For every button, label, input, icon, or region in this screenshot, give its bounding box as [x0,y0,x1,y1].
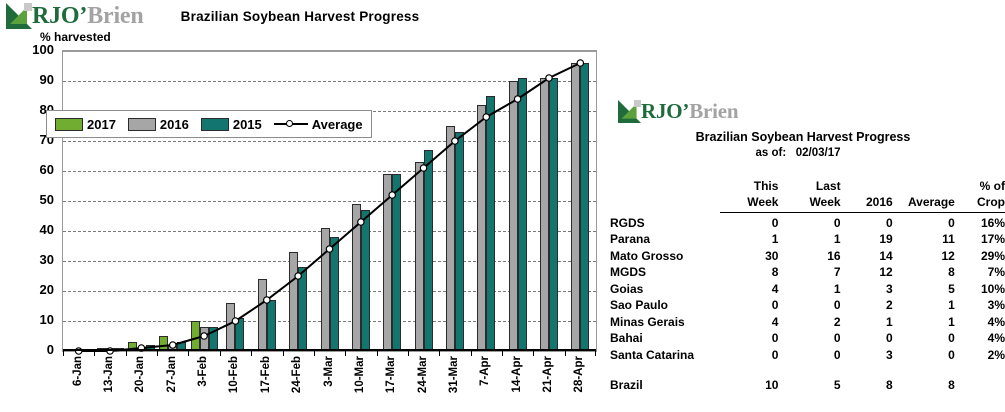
table-row: MGDS871287% [608,263,1005,280]
row-label: Sao Paulo [608,296,720,313]
cell-pct-crop: 7% [955,263,1005,280]
bar-2015-14-Apr [518,78,527,351]
legend-label: Average [312,117,363,132]
cell-2016: 2 [841,296,893,313]
cell-pct-crop: 4% [955,312,1005,329]
row-label: Bahai [608,329,720,346]
bar-2015-28-Apr [580,63,589,351]
cell-pct-crop: 10% [955,279,1005,296]
cell-this-week: 4 [720,279,778,296]
cell-pct-crop: 29% [955,246,1005,263]
bar-group [94,51,125,351]
bar-group [283,51,314,351]
bar-2015-21-Apr [549,78,558,351]
cell-2016: 12 [841,263,893,280]
bar-group [408,51,439,351]
table-spacer-row [608,362,1005,376]
x-axis-tick [283,351,284,356]
x-axis-tick-label: 14-Apr [511,356,523,392]
x-axis-tick-label: 7-Apr [479,356,491,386]
cell-last-week: 1 [778,279,840,296]
x-axis-tick-label: 3-Feb [197,356,209,387]
table-row: Sao Paulo00213% [608,296,1005,313]
bar-2015-10-Mar [361,210,370,351]
logo-brien-text: Brien [689,99,738,123]
bar-2016-31-Mar [446,126,455,351]
logo-wordmark: RJO’Brien [641,101,738,122]
column-header: Crop [955,193,1005,210]
cell-last-week: 2 [778,312,840,329]
cell-this-week: 0 [720,329,778,346]
bar-group [126,51,157,351]
cell-this-week: 30 [720,246,778,263]
table-body: RGDS000016%Parana11191117%Mato Grosso301… [608,213,1005,393]
bar-group [377,51,408,351]
bar-group [502,51,533,351]
cell-average: 5 [893,279,955,296]
cell-this-week: 1 [720,230,778,247]
cell-last-week: 0 [778,213,840,230]
x-axis-tick [502,351,503,356]
column-header [608,176,720,193]
legend-label: 2017 [87,117,116,132]
column-header: Last [778,176,840,193]
bar-2016-17-Feb [258,279,267,351]
logo-rjo-text: RJO [32,3,79,29]
x-axis-tick-label: 10-Feb [228,356,240,393]
table-row: Parana11191117% [608,230,1005,247]
chart-legend: 201720162015Average [46,110,372,138]
legend-item-2017: 2017 [55,117,116,132]
cell-pct-crop: 3% [955,296,1005,313]
row-label: Mato Grosso [608,246,720,263]
spacer-cell [720,362,778,376]
bar-group [157,51,188,351]
cell-average: 0 [893,329,955,346]
cell-2016: 8 [841,376,893,393]
row-label: Santa Catarina [608,345,720,362]
y-axis-tick-label: 10 [20,315,54,325]
column-header: Week [778,193,840,210]
cell-2016: 0 [841,329,893,346]
column-header [841,176,893,193]
x-axis-tick [220,351,221,356]
x-axis-tick [439,351,440,356]
row-label: Parana [608,230,720,247]
legend-swatch-icon [128,118,156,131]
summary-panel: RJO’Brien Brazilian Soybean Harvest Prog… [608,0,1005,412]
bar-2015-7-Apr [486,96,495,351]
spacer-cell [841,362,893,376]
column-header: This [720,176,778,193]
cell-last-week: 0 [778,329,840,346]
legend-item-2015: 2015 [201,117,262,132]
cell-last-week: 1 [778,230,840,247]
bar-group [471,51,502,351]
cell-this-week: 0 [720,345,778,362]
column-header [893,176,955,193]
row-label: RGDS [608,213,720,230]
y-axis-tick-label: 0 [20,345,54,355]
table-row: Goias413510% [608,279,1005,296]
rjo-brien-logo-chart: RJO’Brien [6,3,144,29]
spacer-cell [955,362,1005,376]
zero-axis-line [63,349,596,351]
cell-this-week: 0 [720,213,778,230]
column-header: Week [720,193,778,210]
x-axis-tick-label: 28-Apr [573,356,585,392]
cell-last-week: 7 [778,263,840,280]
bar-2016-3-Feb [200,327,209,351]
bar-group [188,51,219,351]
bar-2016-3-Mar [321,228,330,351]
y-axis-tick-label: 40 [20,225,54,235]
x-axis-tick [471,351,472,356]
bar-group [345,51,376,351]
plot-area [62,50,597,352]
x-axis-tick-label: 10-Mar [354,356,366,393]
bar-2016-10-Feb [226,303,235,351]
x-axis-tick-label: 6-Jan [72,356,84,386]
x-axis-tick-label: 20-Jan [134,356,146,392]
cell-2016: 3 [841,279,893,296]
y-axis-tick-label: 60 [20,165,54,175]
table-header: ThisLast% ofWeekWeek2016AverageCrop [608,176,1005,213]
legend-item-Average: Average [274,117,363,132]
bar-group [63,51,94,351]
rjo-brien-logo-panel: RJO’Brien [618,100,738,123]
bar-2015-17-Feb [267,300,276,351]
table-row: Santa Catarina00302% [608,345,1005,362]
bar-2016-10-Mar [352,204,361,351]
rjo-brien-logo-icon [618,100,641,123]
x-axis-tick-label: 21-Apr [542,356,554,392]
bar-2015-3-Feb [209,327,218,351]
cell-pct-crop: 17% [955,230,1005,247]
column-header: % of [955,176,1005,193]
bar-group [565,51,596,351]
cell-pct-crop: 2% [955,345,1005,362]
y-axis-tick-label: 30 [20,255,54,265]
spacer-cell [893,362,955,376]
bar-2015-24-Feb [298,267,307,351]
spacer-cell [608,362,720,376]
table-header-row: ThisLast% of [608,176,1005,193]
harvest-progress-table: ThisLast% ofWeekWeek2016AverageCrop RGDS… [608,176,1005,392]
x-axis-tick [63,351,64,356]
bar-group [220,51,251,351]
table-row: Bahai00004% [608,329,1005,346]
bar-2016-28-Apr [571,63,580,351]
cell-this-week: 0 [720,296,778,313]
panel-subtitle: as of: 02/03/17 [608,147,988,159]
row-label: Brazil [608,376,720,393]
cell-pct-crop: 4% [955,329,1005,346]
x-axis-tick-label: 24-Feb [291,356,303,393]
cell-average: 0 [893,345,955,362]
bar-2016-7-Apr [477,105,486,351]
bar-2017-3-Feb [191,321,200,351]
x-axis-tick-label: 3-Mar [323,356,335,387]
bar-group [314,51,345,351]
cell-average: 11 [893,230,955,247]
bar-2015-17-Mar [392,174,401,351]
row-label: Minas Gerais [608,312,720,329]
logo-wordmark: RJO’Brien [32,4,144,28]
x-axis-tick-label: 17-Feb [260,356,272,393]
bar-2016-24-Mar [415,162,424,351]
cell-average: 1 [893,312,955,329]
x-axis-tick-label: 17-Mar [385,356,397,393]
cell-average: 8 [893,263,955,280]
column-header: 2016 [841,193,893,210]
cell-last-week: 16 [778,246,840,263]
table-row: Mato Grosso3016141229% [608,246,1005,263]
logo-brien-text: Brien [87,3,143,29]
x-axis-tick [345,351,346,356]
x-axis-tick [314,351,315,356]
spacer-cell [778,362,840,376]
x-axis-tick [565,351,566,356]
x-axis-tick [533,351,534,356]
x-axis-tick [251,351,252,356]
x-axis-tick [595,351,596,356]
bar-2016-21-Apr [540,78,549,351]
row-label: MGDS [608,263,720,280]
x-axis-tick-label: 13-Jan [103,356,115,392]
panel-subtitle-label: as of: [755,147,786,159]
cell-2016: 1 [841,312,893,329]
bar-groups [63,51,596,351]
bar-2015-31-Mar [455,132,464,351]
bar-2015-10-Feb [235,318,244,351]
column-header [608,193,720,210]
legend-swatch-icon [55,118,83,131]
cell-2016: 14 [841,246,893,263]
row-label: Goias [608,279,720,296]
column-header: Average [893,193,955,210]
cell-2016: 3 [841,345,893,362]
y-axis-tick-label: 20 [20,285,54,295]
y-axis-tick-label: 100 [20,45,54,55]
bar-2016-17-Mar [383,174,392,351]
bar-2015-24-Mar [424,150,433,351]
legend-marker-icon [286,120,293,127]
table-row: RGDS000016% [608,213,1005,230]
bar-2016-14-Apr [509,81,518,351]
x-axis-tick-label: 27-Jan [166,356,178,392]
x-axis-tick [126,351,127,356]
cell-average: 0 [893,213,955,230]
table-header-row: WeekWeek2016AverageCrop [608,193,1005,210]
cell-this-week: 8 [720,263,778,280]
bar-group [251,51,282,351]
y-axis-tick-label: 50 [20,195,54,205]
chart-title: Brazilian Soybean Harvest Progress [140,9,460,24]
legend-swatch-icon [201,118,229,131]
legend-line-icon [274,119,308,129]
panel-subtitle-date: 02/03/17 [796,147,841,159]
bar-2016-24-Feb [289,252,298,351]
table-total-row: Brazil10588 [608,376,1005,393]
bar-2015-3-Mar [330,237,339,351]
table-row: Minas Gerais42114% [608,312,1005,329]
cell-last-week: 0 [778,345,840,362]
panel-title: Brazilian Soybean Harvest Progress [608,130,998,144]
cell-average: 12 [893,246,955,263]
cell-this-week: 10 [720,376,778,393]
bar-group [533,51,564,351]
x-axis-tick [188,351,189,356]
legend-label: 2016 [160,117,189,132]
y-axis-tick-label: 90 [20,75,54,85]
legend-label: 2015 [233,117,262,132]
x-axis-tick [94,351,95,356]
cell-average: 1 [893,296,955,313]
x-axis-tick-label: 24-Mar [417,356,429,393]
bar-group [439,51,470,351]
cell-last-week: 0 [778,296,840,313]
cell-pct-crop: 16% [955,213,1005,230]
cell-2016: 19 [841,230,893,247]
cell-average: 8 [893,376,955,393]
rjo-brien-logo-icon [6,3,32,29]
x-axis-tick [157,351,158,356]
cell-pct-crop [955,376,1005,393]
x-axis-tick-label: 31-Mar [448,356,460,393]
legend-item-2016: 2016 [128,117,189,132]
cell-this-week: 4 [720,312,778,329]
cell-last-week: 5 [778,376,840,393]
logo-rjo-text: RJO [641,99,682,123]
x-axis-tick [408,351,409,356]
chart-region: RJO’Brien Brazilian Soybean Harvest Prog… [0,0,620,412]
cell-2016: 0 [841,213,893,230]
x-axis-tick [377,351,378,356]
